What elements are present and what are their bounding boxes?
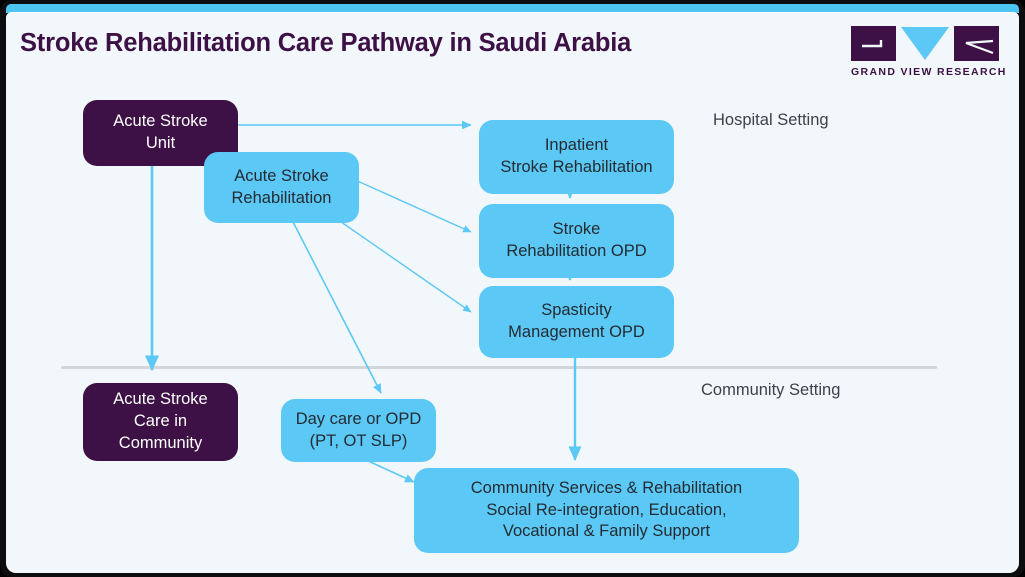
- node-line-1: Acute Stroke: [113, 111, 207, 133]
- node-label: Acute Stroke Care in Community: [113, 389, 207, 454]
- node-line-1: Spasticity: [508, 300, 645, 322]
- node-acute-stroke-rehabilitation[interactable]: Acute Stroke Rehabilitation: [204, 152, 359, 223]
- gvr-logo-icon: [851, 26, 999, 62]
- node-label: Inpatient Stroke Rehabilitation: [500, 135, 652, 179]
- node-line-2: Stroke Rehabilitation: [500, 157, 652, 179]
- node-label: Acute Stroke Rehabilitation: [232, 166, 332, 210]
- node-label: Spasticity Management OPD: [508, 300, 645, 344]
- node-line-2: Care in: [113, 411, 207, 433]
- node-line-1: Acute Stroke: [232, 166, 332, 188]
- node-line-1: Inpatient: [500, 135, 652, 157]
- node-line-3: Community: [113, 433, 207, 455]
- node-line-2: Management OPD: [508, 322, 645, 344]
- node-line-2: (PT, OT SLP): [296, 431, 422, 453]
- label-hospital-setting: Hospital Setting: [713, 111, 829, 130]
- arrow-rehab-to-spasticity-opd: [331, 215, 471, 312]
- node-label: Stroke Rehabilitation OPD: [506, 219, 646, 263]
- node-label: Acute Stroke Unit: [113, 111, 207, 155]
- node-day-care-or-opd[interactable]: Day care or OPD (PT, OT SLP): [281, 399, 436, 462]
- brand-logo-text: GRAND VIEW RESEARCH: [851, 66, 999, 78]
- node-line-2: Rehabilitation OPD: [506, 241, 646, 263]
- node-spasticity-management-opd[interactable]: Spasticity Management OPD: [479, 286, 674, 358]
- node-line-3: Vocational & Family Support: [471, 521, 742, 543]
- node-label: Community Services & Rehabilitation Soci…: [471, 478, 742, 543]
- node-line-1: Stroke: [506, 219, 646, 241]
- infographic-root: Stroke Rehabilitation Care Pathway in Sa…: [0, 0, 1025, 577]
- brand-logo: GRAND VIEW RESEARCH: [851, 26, 999, 82]
- section-divider: [61, 366, 937, 369]
- node-line-2: Unit: [113, 133, 207, 155]
- node-line-1: Day care or OPD: [296, 409, 422, 431]
- node-inpatient-stroke-rehabilitation[interactable]: Inpatient Stroke Rehabilitation: [479, 120, 674, 194]
- node-acute-stroke-care-in-community[interactable]: Acute Stroke Care in Community: [83, 383, 238, 461]
- node-stroke-rehabilitation-opd[interactable]: Stroke Rehabilitation OPD: [479, 204, 674, 278]
- node-label: Day care or OPD (PT, OT SLP): [296, 409, 422, 453]
- label-community-setting: Community Setting: [701, 381, 840, 400]
- page-title: Stroke Rehabilitation Care Pathway in Sa…: [20, 29, 631, 58]
- diagram-canvas: Stroke Rehabilitation Care Pathway in Sa…: [6, 12, 1019, 573]
- node-line-2: Rehabilitation: [232, 188, 332, 210]
- arrow-rehab-to-stroke-opd: [353, 179, 471, 232]
- node-line-1: Acute Stroke: [113, 389, 207, 411]
- outer-frame: Stroke Rehabilitation Care Pathway in Sa…: [0, 0, 1025, 577]
- node-line-2: Social Re-integration, Education,: [471, 500, 742, 522]
- node-community-services-rehabilitation[interactable]: Community Services & Rehabilitation Soci…: [414, 468, 799, 553]
- node-line-1: Community Services & Rehabilitation: [471, 478, 742, 500]
